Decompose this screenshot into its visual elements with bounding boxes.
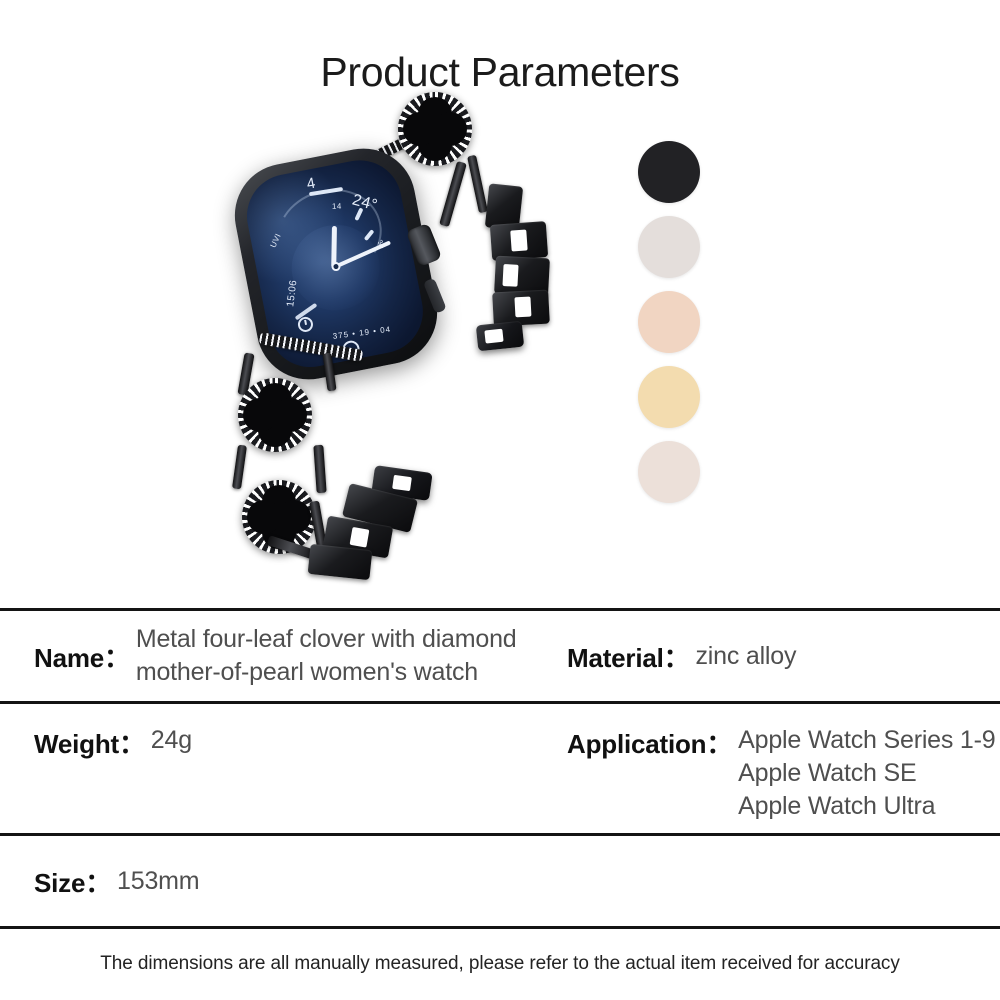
spec-value-name: Metal four-leaf clover with diamond moth… <box>130 623 517 689</box>
bracelet-chain-segment <box>232 445 247 490</box>
specifications-table: Name： Metal four-leaf clover with diamon… <box>0 608 1000 975</box>
side-button <box>423 278 447 314</box>
spec-value-name-line2: mother-of-pearl women's watch <box>136 658 478 686</box>
color-swatch-list <box>638 141 718 516</box>
bottom-readout: 375 • 19 • 04 <box>333 325 392 341</box>
list-item: Apple Watch SE <box>738 757 995 790</box>
timer-icon <box>296 316 314 334</box>
strap-link-hole <box>510 230 527 252</box>
spec-value-material: zinc alloy <box>689 640 796 673</box>
spec-label-application: Application： <box>567 724 732 761</box>
measurement-disclaimer: The dimensions are all manually measured… <box>0 929 1000 975</box>
time-value: 15:06 <box>285 279 299 307</box>
spec-cell-name: Name： Metal four-leaf clover with diamon… <box>0 611 555 701</box>
color-swatch-gold[interactable] <box>638 366 700 428</box>
spec-cell-weight: Weight： 24g <box>0 704 555 833</box>
bracelet-chain-segment <box>313 445 326 494</box>
strap-link <box>492 290 550 327</box>
spec-value-name-line1: Metal four-leaf clover with diamond <box>136 625 517 653</box>
temp-low-value: 14 <box>332 202 342 211</box>
list-item: Apple Watch Ultra <box>738 790 995 823</box>
color-swatch-silver[interactable] <box>638 216 700 278</box>
color-swatch-rose-gold[interactable] <box>638 291 700 353</box>
bracelet-chain-segment <box>467 155 488 214</box>
color-swatch-black[interactable] <box>638 141 700 203</box>
table-row: Name： Metal four-leaf clover with diamon… <box>0 611 1000 704</box>
clover-shape <box>403 97 467 161</box>
list-item: Apple Watch Series 1-9 <box>738 724 995 757</box>
page-title: Product Parameters <box>0 0 1000 95</box>
spec-label-weight: Weight： <box>34 724 145 761</box>
spec-cell-size: Size： 153mm <box>0 836 1000 926</box>
spec-value-application-list: Apple Watch Series 1-9 Apple Watch SE Ap… <box>732 724 995 823</box>
spec-label-size: Size： <box>34 863 111 900</box>
strap-clasp-hole <box>392 475 412 491</box>
product-image: UVI 4 14 24° 31 15:06 375 • 19 • 04 <box>205 145 585 605</box>
spec-value-size: 153mm <box>111 865 199 898</box>
strap-link-hole <box>350 527 370 548</box>
strap-clasp-hole <box>484 329 503 344</box>
strap-link <box>308 544 373 580</box>
spec-label-name: Name： <box>34 638 130 675</box>
spec-label-material: Material： <box>567 638 689 675</box>
table-row: Size： 153mm <box>0 836 1000 929</box>
table-row: Weight： 24g Application： Apple Watch Ser… <box>0 704 1000 836</box>
strap-link-hole <box>514 297 531 318</box>
color-swatch-beige[interactable] <box>638 441 700 503</box>
strap-link-hole <box>502 264 518 287</box>
bracelet-chain-segment <box>439 161 467 227</box>
spec-value-weight: 24g <box>145 724 192 757</box>
spec-cell-application: Application： Apple Watch Series 1-9 Appl… <box>555 704 1000 833</box>
hero-section: UVI 4 14 24° 31 15:06 375 • 19 • 04 <box>0 95 1000 565</box>
clover-shape <box>243 383 307 447</box>
strap-clasp <box>476 321 524 352</box>
spec-cell-material: Material： zinc alloy <box>555 611 1000 701</box>
